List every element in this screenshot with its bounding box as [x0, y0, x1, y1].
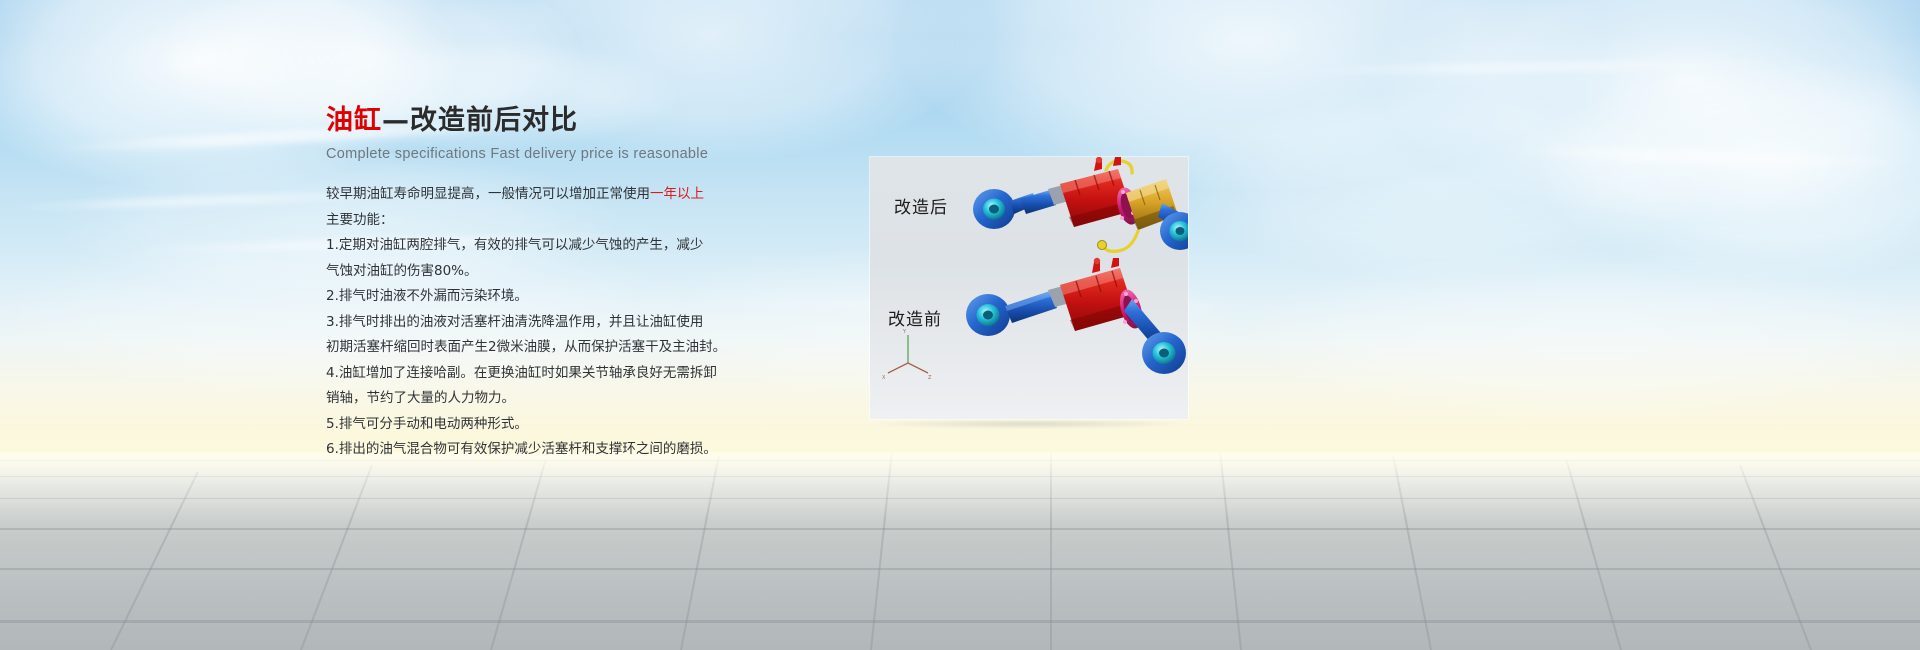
cloud-streak: [1280, 57, 1800, 76]
pavement-seam: [1392, 455, 1432, 650]
feature-item-1-line-1: 1.定期对油缸两腔排气，有效的排气可以减少气蚀的产生，减少: [326, 233, 846, 259]
pavement-seam: [490, 459, 546, 650]
pavement-seam: [1219, 453, 1242, 650]
cloud-shape: [1380, 0, 1920, 220]
title-highlight: 油缸: [326, 105, 382, 136]
feature-item-6: 6.排出的油气混合物可有效保护减少活塞杆和支撑环之间的磨损。: [326, 437, 846, 463]
intro-accent: 一年以上: [650, 186, 704, 202]
intro-line: 较早期油缸寿命明显提高，一般情况可以增加正常使用一年以上: [326, 182, 846, 208]
label-before-modification: 改造前: [888, 305, 942, 330]
features-heading: 主要功能：: [326, 208, 846, 234]
label-after-modification: 改造后: [894, 193, 948, 218]
pavement-seam: [300, 465, 373, 650]
pavement-seam: [1050, 452, 1052, 650]
page-title: 油缸—改造前后对比: [326, 104, 846, 138]
cylinder-after-assembly: [973, 157, 1188, 251]
pavement-line: [0, 498, 1920, 499]
rod-eye-left-before: [966, 294, 1010, 336]
horizon-haze: [0, 452, 1920, 522]
cloud-shape: [1240, 250, 1920, 420]
pavement-line: [0, 460, 1920, 461]
vent-valve-b: [1113, 157, 1121, 166]
cloud-shape: [1540, 60, 1920, 280]
exhaust-tube-lower: [1102, 231, 1138, 251]
feature-item-5: 5.排气可分手动和电动两种形式。: [326, 412, 846, 438]
pavement-seam: [1739, 465, 1812, 650]
feature-item-2: 2.排气时油液不外漏而污染环境。: [326, 284, 846, 310]
pavement-seam: [110, 472, 199, 650]
cloud-shape: [1180, 90, 1700, 280]
pavement-seam: [680, 455, 720, 650]
feature-item-4-line-1: 4.油缸增加了连接哈副。在更换油缸时如果关节轴承良好无需拆卸: [326, 361, 846, 387]
feature-item-3-line-2: 初期活塞杆缩回时表面产生2微米油膜，从而保护活塞干及主油封。: [326, 335, 846, 361]
pavement-line: [0, 568, 1920, 570]
banner-content: 油缸—改造前后对比 Complete specifications Fast d…: [326, 104, 846, 463]
promo-banner: 油缸—改造前后对比 Complete specifications Fast d…: [0, 0, 1920, 650]
feature-item-1-line-2: 气蚀对油缸的伤害80%。: [326, 259, 846, 285]
cylinder-before-assembly: [966, 258, 1186, 374]
pavement-background: [0, 452, 1920, 650]
feature-item-3-line-1: 3.排气时排出的油液对活塞杆油清洗降温作用，并且让油缸使用: [326, 310, 846, 336]
pavement-line: [0, 620, 1920, 623]
vent-valve-before-b: [1111, 258, 1119, 268]
axis-label-x: X: [882, 375, 886, 381]
cloud-streak: [1500, 143, 1920, 172]
feature-description: 较早期油缸寿命明显提高，一般情况可以增加正常使用一年以上 主要功能： 1.定期对…: [326, 182, 846, 463]
pavement-seam: [870, 453, 893, 650]
feature-item-4-line-2: 销轴，节约了大量的人力物力。: [326, 386, 846, 412]
axis-label-z: Z: [928, 375, 932, 381]
intro-text: 较早期油缸寿命明显提高，一般情况可以增加正常使用: [326, 186, 650, 202]
pavement-seam: [1565, 459, 1621, 650]
pavement-line: [0, 476, 1920, 477]
page-subtitle: Complete specifications Fast delivery pr…: [326, 146, 846, 162]
rod-eye-right-before: [1142, 332, 1186, 374]
pavement-line: [0, 528, 1920, 530]
title-rest: —改造前后对比: [382, 105, 578, 136]
coordinate-axis-icon: Y X Z: [882, 329, 932, 381]
product-comparison-panel: Y X Z 改造后 改造前: [870, 157, 1188, 419]
